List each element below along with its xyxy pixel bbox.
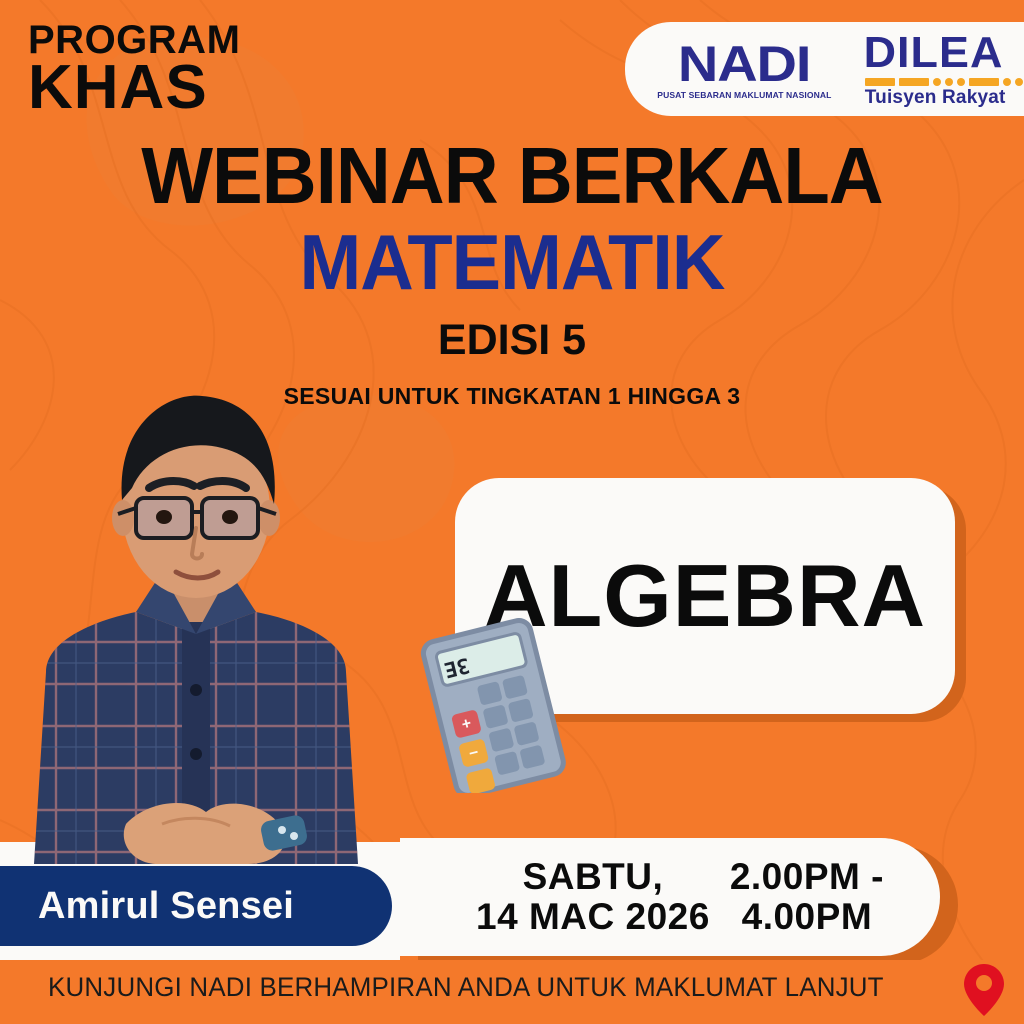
dilea-dash-row: [865, 78, 1023, 86]
headline-edition: EDISI 5: [0, 316, 1024, 365]
schedule-day: SABTU,: [523, 857, 664, 897]
calculator-icon: 3E + −: [412, 618, 582, 793]
location-pin-icon: [962, 962, 1006, 1018]
schedule-time-start: 2.00PM -: [730, 857, 884, 897]
speaker-name-banner: Amirul Sensei: [0, 866, 392, 946]
headline-target-audience: SESUAI UNTUK TINGKATAN 1 HINGGA 3: [0, 383, 1024, 410]
schedule-time-end: 4.00PM: [742, 897, 873, 937]
schedule-card: SABTU, 14 MAC 2026 2.00PM - 4.00PM: [400, 838, 940, 956]
nadi-tagline: PUSAT SEBARAN MAKLUMAT NASIONAL: [657, 91, 831, 99]
headline-subject: MATEMATIK: [26, 222, 999, 304]
nadi-wordmark: NADI: [678, 39, 810, 89]
webinar-poster: NADI PUSAT SEBARAN MAKLUMAT NASIONAL DIL…: [0, 0, 1024, 1024]
program-line-2: KHAS: [28, 59, 240, 117]
schedule-time-column: 2.00PM - 4.00PM: [730, 857, 884, 937]
dilea-logo: DILEA Tuisyen Rakyat: [865, 31, 1023, 107]
schedule-date-column: SABTU, 14 MAC 2026: [476, 857, 710, 937]
headline-main: WEBINAR BERKALA: [26, 136, 999, 216]
schedule-date: 14 MAC 2026: [476, 897, 710, 937]
speaker-photo: [0, 372, 406, 864]
footer-call-to-action: KUNJUNGI NADI BERHAMPIRAN ANDA UNTUK MAK…: [48, 972, 884, 1003]
dilea-wordmark: DILEA: [863, 31, 1003, 75]
program-label: PROGRAM KHAS: [28, 22, 240, 117]
nadi-logo: NADI PUSAT SEBARAN MAKLUMAT NASIONAL: [659, 39, 830, 99]
speaker-name: Amirul Sensei: [38, 885, 294, 928]
logo-container: NADI PUSAT SEBARAN MAKLUMAT NASIONAL DIL…: [625, 22, 1024, 116]
dilea-tagline: Tuisyen Rakyat: [865, 88, 1006, 107]
headline-block: WEBINAR BERKALA MATEMATIK EDISI 5 SESUAI…: [0, 136, 1024, 410]
logo-divider: [846, 38, 849, 100]
